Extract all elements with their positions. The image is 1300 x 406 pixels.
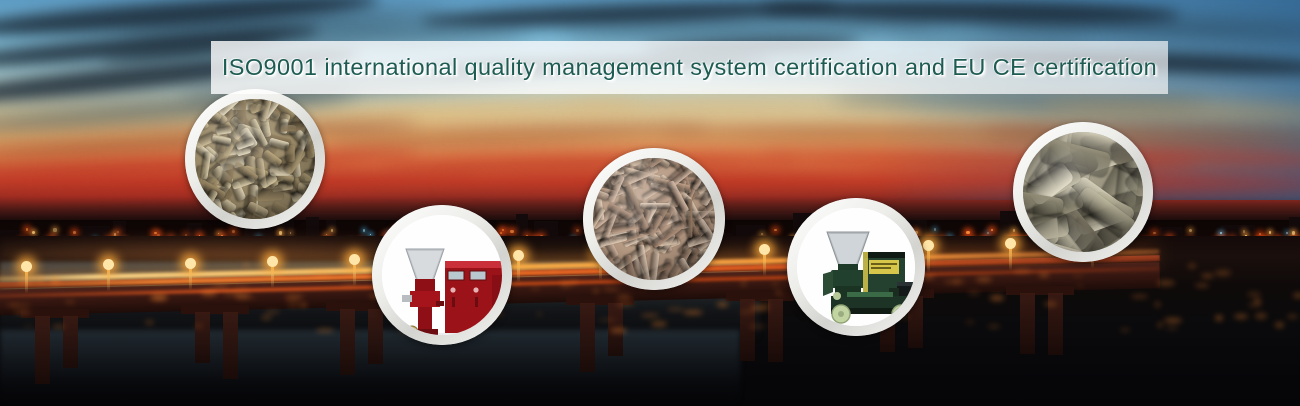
bridge-pier	[768, 299, 783, 362]
light-reflection	[741, 280, 746, 286]
light-reflection	[779, 294, 784, 296]
light-reflection	[550, 267, 557, 272]
green-pellet-mill	[797, 208, 915, 326]
circle-photo	[382, 215, 502, 335]
light-reflection	[772, 281, 778, 286]
pellet-texture	[1023, 132, 1143, 252]
light-reflection	[531, 287, 540, 290]
light-reflection	[14, 311, 31, 314]
bridge-lamp	[1009, 244, 1012, 270]
light-reflection	[1158, 322, 1162, 325]
light-reflection	[150, 295, 167, 301]
headline-text: ISO9001 international quality management…	[222, 54, 1157, 81]
light-reflection	[285, 294, 303, 299]
city-light	[1153, 232, 1156, 235]
light-reflection	[340, 284, 358, 287]
light-reflection	[223, 292, 241, 296]
light-reflection	[536, 312, 543, 316]
light-reflection	[749, 324, 766, 329]
light-reflection	[683, 310, 703, 315]
long-wood-pellets[interactable]	[583, 148, 725, 290]
light-reflection	[976, 277, 992, 282]
large-pellets-macro[interactable]	[1013, 122, 1153, 262]
light-reflection	[990, 295, 1005, 300]
light-reflection	[1044, 302, 1057, 306]
bridge-pier-cap	[181, 305, 249, 314]
light-reflection	[244, 263, 249, 266]
bridge-lamp	[353, 260, 356, 286]
light-reflection	[1287, 315, 1297, 318]
bridge-lamp	[107, 265, 110, 291]
light-reflection	[988, 324, 1001, 329]
bridge-pier-cap	[21, 309, 89, 318]
light-reflection	[717, 302, 728, 306]
pellet	[307, 184, 315, 202]
bridge-lamp	[763, 250, 766, 276]
light-reflection	[751, 305, 769, 311]
light-reflection	[571, 280, 578, 284]
bridge-lamp	[927, 246, 930, 272]
bridge-pier	[195, 312, 210, 363]
light-reflection	[35, 277, 45, 282]
light-reflection	[51, 277, 59, 283]
city-light	[576, 229, 579, 232]
green-mill-svg	[797, 208, 915, 326]
pellet-vignette	[593, 158, 715, 280]
pellet-texture	[593, 158, 715, 280]
light-reflection	[1073, 274, 1083, 276]
circle-photo	[195, 99, 315, 219]
red-pellet-mill	[382, 215, 502, 335]
pellet-vignette	[1023, 132, 1143, 252]
light-reflection	[641, 314, 659, 317]
red-mill-svg	[382, 215, 502, 335]
light-reflection	[968, 292, 979, 295]
light-reflection	[1201, 274, 1214, 278]
light-reflection	[316, 329, 334, 332]
wood-pellets-closeup[interactable]	[185, 89, 325, 229]
light-reflection	[1164, 318, 1182, 323]
light-reflection	[1293, 293, 1300, 298]
light-reflection	[944, 280, 959, 284]
light-reflection	[300, 303, 307, 307]
light-reflection	[6, 304, 18, 306]
bridge-lamp	[517, 256, 520, 282]
city-light	[966, 231, 970, 235]
light-reflection	[1248, 303, 1262, 307]
bridge-pier	[340, 309, 355, 376]
bridge-pier	[35, 316, 50, 385]
pellet-vignette	[195, 99, 315, 219]
light-reflection	[265, 311, 280, 313]
light-reflection	[593, 289, 598, 293]
bridge-pier-cap	[726, 292, 794, 301]
bridge-lamp	[271, 262, 274, 288]
light-reflection	[212, 284, 229, 288]
circle-photo	[797, 208, 915, 326]
bridge-pier-cap	[1006, 286, 1074, 295]
light-reflection	[1039, 273, 1049, 277]
bridge-pier	[580, 303, 595, 372]
light-reflection	[651, 321, 668, 327]
light-reflection	[1157, 280, 1175, 286]
light-reflection	[1215, 315, 1222, 321]
light-reflection	[1131, 295, 1148, 298]
city-light	[1286, 232, 1288, 234]
circle-photo	[593, 158, 715, 280]
light-reflection	[1234, 314, 1247, 319]
promotional-banner: ISO9001 international quality management…	[0, 0, 1300, 406]
bridge-lamp	[189, 264, 192, 290]
light-reflection	[261, 315, 272, 320]
light-reflection	[776, 290, 780, 295]
bridge-pier	[1020, 293, 1035, 355]
light-reflection	[1215, 270, 1231, 275]
light-reflection	[603, 287, 618, 293]
city-light	[1269, 231, 1271, 233]
light-reflection	[560, 281, 572, 287]
bridge-pier	[368, 309, 383, 365]
pellet-texture	[195, 99, 315, 219]
circle-photo	[1023, 132, 1143, 252]
green-pellet-mill-machine[interactable]	[787, 198, 925, 336]
light-reflection	[1275, 322, 1284, 328]
light-reflection	[1166, 326, 1178, 330]
light-reflection	[1188, 264, 1196, 268]
red-pellet-mill-machine[interactable]	[372, 205, 512, 345]
headline-band: ISO9001 international quality management…	[211, 41, 1168, 94]
bridge-pier	[63, 316, 78, 369]
light-reflection	[17, 279, 33, 284]
light-reflection	[194, 324, 202, 328]
light-reflection	[610, 328, 627, 333]
light-reflection	[1155, 302, 1160, 306]
bridge-pier	[223, 312, 238, 379]
